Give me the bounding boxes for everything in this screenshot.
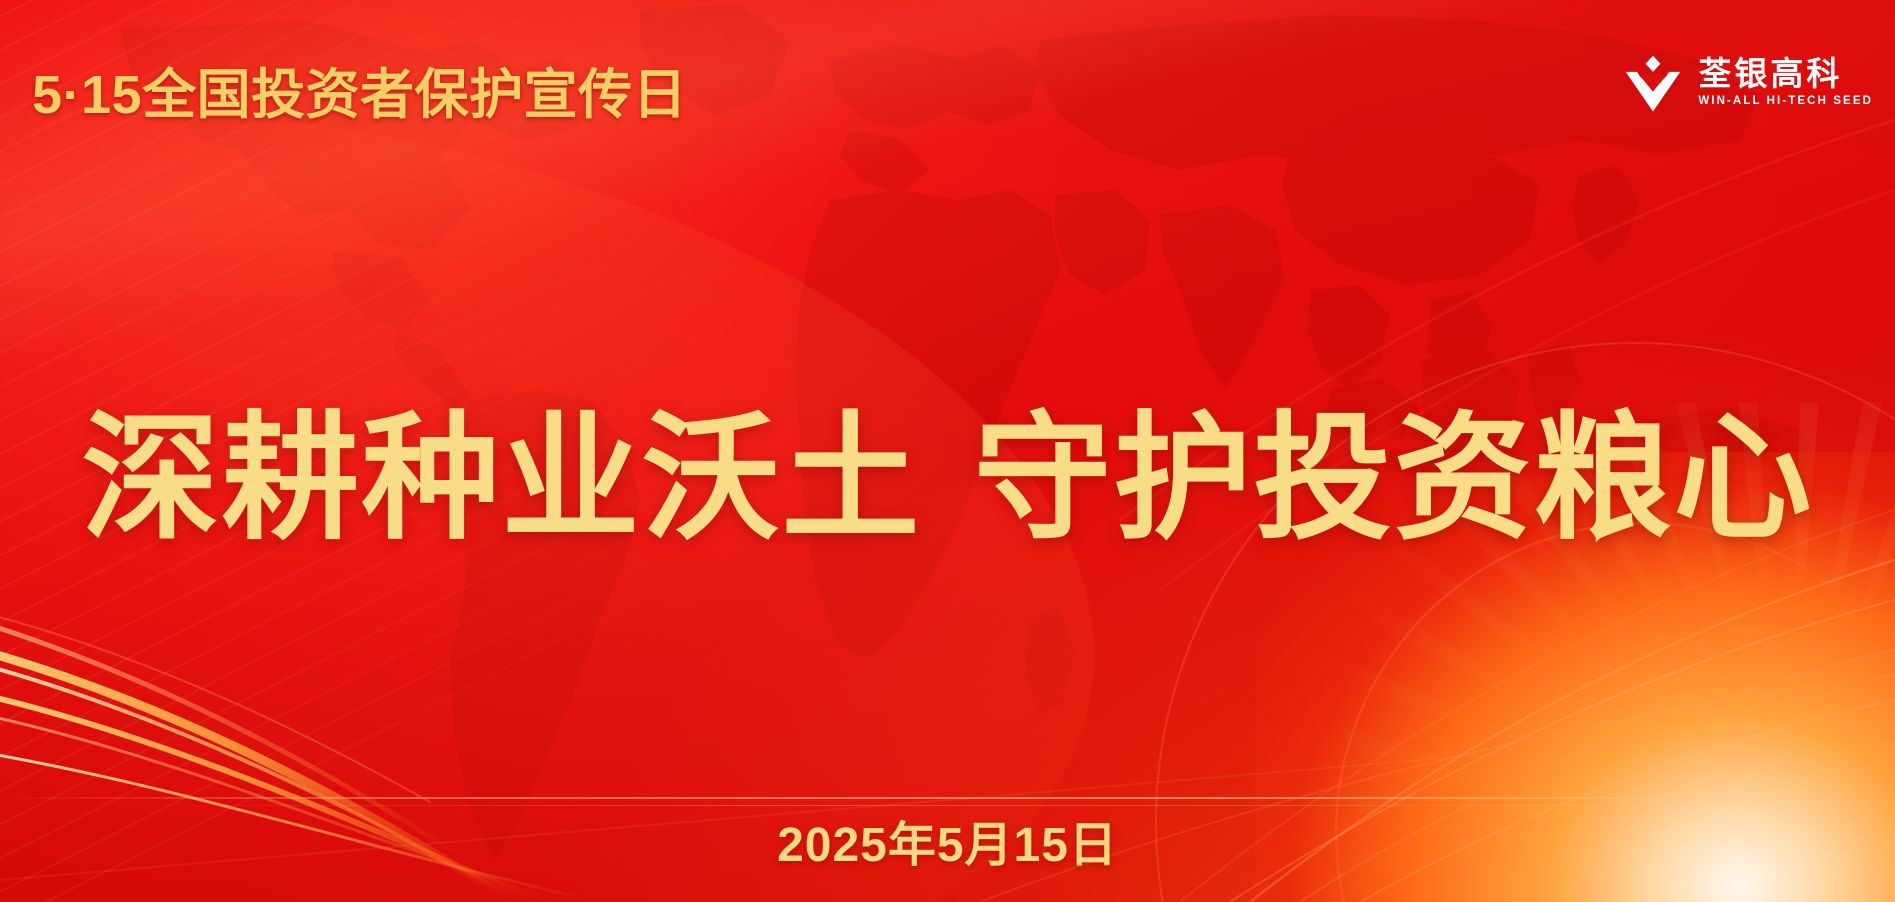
campaign-eyebrow-title: 5·15全国投资者保护宣传日 xyxy=(32,50,687,129)
chevron-diamond-logo-icon xyxy=(1622,52,1684,114)
company-logo: 荃银高科 WIN-ALL HI-TECH SEED xyxy=(1622,52,1873,114)
headline-part-1: 深耕种业沃土 xyxy=(81,402,921,556)
page-title: 深耕种业沃土守护投资粮心 xyxy=(0,410,1895,548)
headline-part-2: 守护投资粮心 xyxy=(974,402,1814,556)
logo-name-cn: 荃银高科 xyxy=(1698,57,1842,92)
logo-wordmark: 荃银高科 WIN-ALL HI-TECH SEED xyxy=(1698,57,1873,108)
lower-highlight-line xyxy=(0,797,1895,799)
logo-name-en: WIN-ALL HI-TECH SEED xyxy=(1698,95,1873,109)
investor-protection-day-banner: 5·15全国投资者保护宣传日 深耕种业沃土守护投资粮心 2025年5月15日 荃… xyxy=(0,0,1895,902)
event-date: 2025年5月15日 xyxy=(0,805,1895,875)
